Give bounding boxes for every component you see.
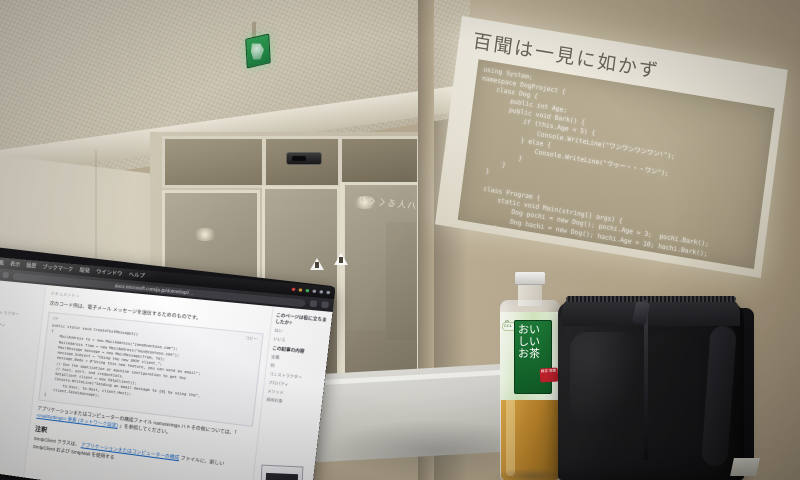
doc-main-content: ドキュメント > 次のコード例は、電子メール メッセージを送信するためのものです…	[24, 285, 272, 480]
sidebar-item[interactable]: 注釈	[0, 344, 35, 356]
brand-badge-text: CCL	[504, 323, 512, 328]
status-dot-red	[292, 288, 296, 292]
bag-zipper[interactable]	[566, 296, 736, 302]
desk-device	[260, 465, 304, 480]
black-backpack[interactable]	[548, 286, 780, 480]
sidebar-item[interactable]: メソッド	[0, 332, 36, 344]
menu-item-history[interactable]: 履歴	[26, 262, 37, 270]
copy-button[interactable]: コピー	[245, 336, 258, 343]
status-dot-amber	[299, 288, 303, 292]
menu-item-window[interactable]: ウインドウ	[96, 268, 123, 278]
sidebar-item[interactable]: プロパティ	[0, 321, 38, 332]
photo-scene: ドーハ人るくぐり 百聞は一見に如かず using System; namespa…	[0, 0, 800, 480]
transom-mullion	[338, 136, 342, 188]
door-sensor-icon	[286, 152, 322, 165]
sidebar-item[interactable]: 例	[0, 297, 40, 308]
sidebar-item[interactable]: 適用対象	[0, 356, 33, 368]
warning-triangle-icon	[310, 258, 324, 270]
bag-flap	[562, 298, 740, 326]
web-page[interactable]: 定義 例 コンストラクター プロパティ メソッド 注釈 適用対象 ドキュメント …	[0, 279, 332, 480]
laptop-screen[interactable]: 編集 表示 履歴 ブックマーク 開発 ウインドウ ヘルプ	[0, 257, 335, 480]
sidebar-item[interactable]: 定義	[0, 285, 42, 296]
sliding-door-right[interactable]	[342, 182, 420, 398]
menu-item-bookmarks[interactable]: ブックマーク	[42, 263, 74, 273]
forward-icon[interactable]	[2, 272, 9, 279]
share-icon[interactable]	[321, 301, 329, 308]
ceiling-light-reflection	[192, 228, 218, 241]
status-dot-green	[305, 289, 309, 293]
reload-icon[interactable]	[310, 300, 318, 307]
emergency-exit-sign-icon	[245, 33, 271, 68]
bottle-cap[interactable]	[515, 272, 545, 285]
desk-device-screen	[265, 473, 298, 480]
menu-item-view[interactable]: 表示	[10, 260, 21, 268]
battery-icon[interactable]	[319, 290, 323, 294]
menu-item-develop[interactable]: 開発	[79, 267, 90, 275]
sidebar-item[interactable]: コンストラクター	[0, 309, 39, 320]
chair-behind-bag	[730, 458, 760, 476]
clock-icon[interactable]	[326, 291, 330, 295]
label-green-panel: おいしいお茶	[514, 320, 552, 394]
product-name: おいしいお茶	[518, 324, 548, 360]
wifi-icon[interactable]	[312, 290, 316, 294]
slide-code-block: using System; namespace DogProject { cla…	[458, 59, 775, 269]
slide-code-text: using System; namespace DogProject { cla…	[458, 59, 775, 269]
bag-highlight	[570, 332, 640, 428]
feedback-title: このページは役に立ちましたか?	[275, 312, 328, 330]
code-language-label: C#	[53, 316, 58, 322]
sensor-lens-icon	[292, 156, 306, 161]
warning-triangle-icon	[334, 253, 348, 265]
menu-item-edit[interactable]: 編集	[0, 259, 5, 267]
bottle-liquid-highlight	[506, 398, 515, 476]
transom-mullion	[262, 136, 266, 188]
menu-item-help[interactable]: ヘルプ	[128, 271, 145, 280]
running-man-icon	[251, 41, 265, 62]
menu-bar-status-area[interactable]	[292, 288, 331, 295]
